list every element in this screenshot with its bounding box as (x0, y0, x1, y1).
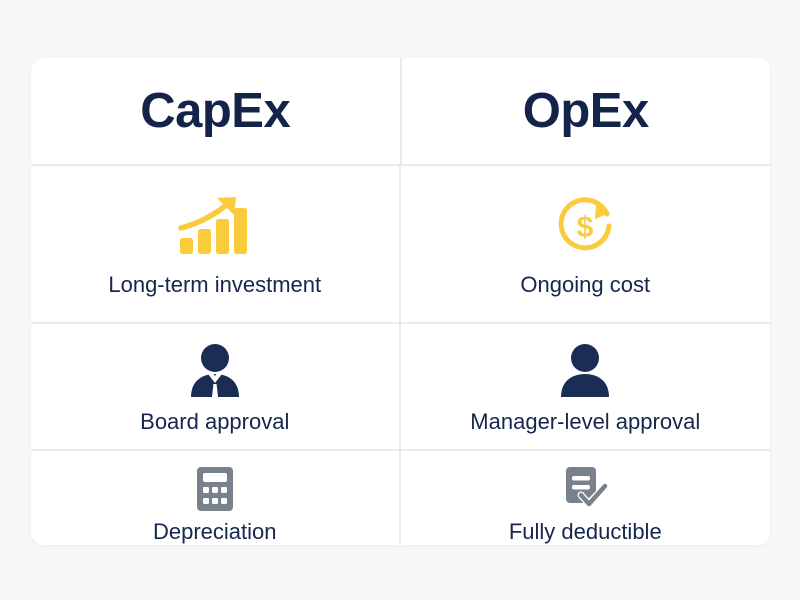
cell-capex-investment: Long-term investment (31, 166, 401, 322)
cell-opex-deductible: Fully deductible (401, 451, 771, 545)
cell-capex-depreciation: Depreciation (31, 451, 401, 545)
cell-opex-approval: Manager-level approval (401, 324, 771, 449)
comparison-table-card: CapEx OpEx Long-term i (31, 58, 770, 545)
table-row: Depreciation Fully deductible (31, 451, 770, 545)
cell-label: Depreciation (153, 519, 277, 544)
column-title-capex: CapEx (140, 87, 290, 136)
cell-label: Manager-level approval (470, 409, 700, 434)
cell-label: Board approval (140, 409, 289, 434)
table-header-row: CapEx OpEx (31, 58, 770, 166)
growth-bar-chart-icon (176, 194, 254, 256)
column-title-opex: OpEx (523, 87, 649, 136)
table-row: Long-term investment $ Ongoing cost (31, 166, 770, 324)
calculator-icon (193, 465, 237, 513)
comparison-infographic: CapEx OpEx Long-term i (0, 0, 800, 600)
businessperson-icon (184, 343, 246, 399)
cell-label: Fully deductible (509, 519, 662, 544)
recurring-dollar-icon: $ (552, 194, 618, 256)
header-cell-capex: CapEx (31, 58, 402, 164)
document-check-icon (560, 465, 610, 513)
user-icon (554, 343, 616, 399)
header-cell-opex: OpEx (402, 58, 771, 164)
cell-capex-approval: Board approval (31, 324, 401, 449)
svg-text:$: $ (577, 211, 594, 244)
cell-label: Long-term investment (108, 272, 321, 297)
cell-label: Ongoing cost (520, 272, 650, 297)
cell-opex-ongoing-cost: $ Ongoing cost (401, 166, 771, 322)
table-row: Board approval Manager-level approval (31, 324, 770, 451)
